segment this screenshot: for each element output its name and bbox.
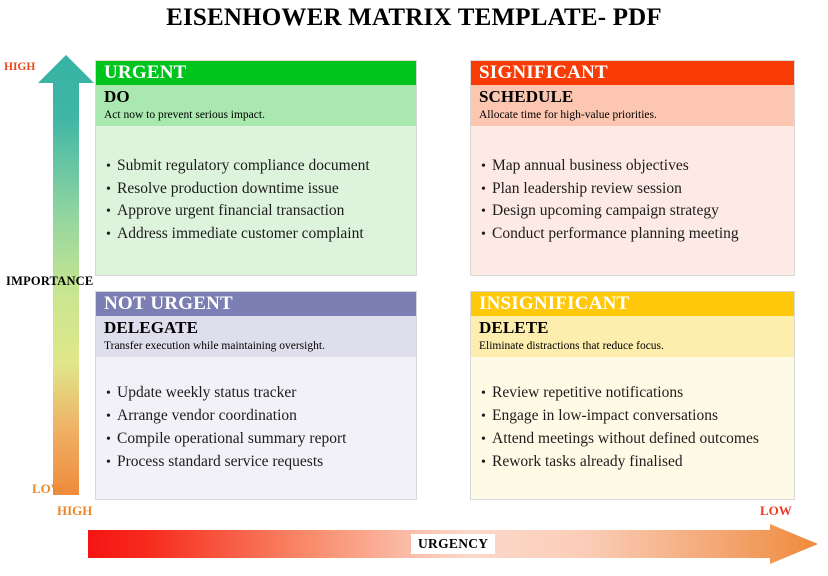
eisenhower-matrix-page: EISENHOWER MATRIX TEMPLATE- PDF HIGH IMP… bbox=[0, 0, 828, 576]
list-item[interactable]: Engage in low-impact conversations bbox=[481, 405, 794, 428]
list-item[interactable]: Attend meetings without defined outcomes bbox=[481, 428, 794, 451]
quadrant-header-label: NOT URGENT bbox=[96, 292, 416, 316]
list-item[interactable]: Conduct performance planning meeting bbox=[481, 223, 794, 246]
quadrant-action-label: DO bbox=[104, 87, 416, 107]
list-item[interactable]: Approve urgent financial transaction bbox=[106, 200, 416, 223]
quadrant-action-label: DELETE bbox=[479, 318, 794, 338]
list-item[interactable]: Submit regulatory compliance document bbox=[106, 155, 416, 178]
quadrant-header-label: SIGNIFICANT bbox=[471, 61, 794, 85]
task-list: Review repetitive notifications Engage i… bbox=[481, 382, 794, 473]
quadrant-description: Transfer execution while maintaining ove… bbox=[104, 338, 416, 353]
task-list: Submit regulatory compliance document Re… bbox=[106, 155, 416, 246]
urgency-axis-label: URGENCY bbox=[411, 534, 495, 554]
quadrant-not-urgent-delegate[interactable]: NOT URGENT DELEGATE Transfer execution w… bbox=[95, 291, 417, 500]
list-item[interactable]: Process standard service requests bbox=[106, 451, 416, 474]
list-item[interactable]: Update weekly status tracker bbox=[106, 382, 416, 405]
quadrant-description: Eliminate distractions that reduce focus… bbox=[479, 338, 794, 353]
list-item[interactable]: Map annual business objectives bbox=[481, 155, 794, 178]
list-item[interactable]: Plan leadership review session bbox=[481, 178, 794, 201]
quadrant-insignificant-delete[interactable]: INSIGNIFICANT DELETE Eliminate distracti… bbox=[470, 291, 795, 500]
list-item[interactable]: Arrange vendor coordination bbox=[106, 405, 416, 428]
quadrant-action-label: SCHEDULE bbox=[479, 87, 794, 107]
quadrant-description: Act now to prevent serious impact. bbox=[104, 107, 416, 122]
page-title: EISENHOWER MATRIX TEMPLATE- PDF bbox=[0, 4, 828, 32]
importance-high-label: HIGH bbox=[4, 61, 35, 73]
importance-axis-label: IMPORTANCE bbox=[6, 274, 93, 289]
quadrant-subtitle-block: DELEGATE Transfer execution while mainta… bbox=[96, 316, 416, 357]
quadrant-header-label: INSIGNIFICANT bbox=[471, 292, 794, 316]
quadrant-description: Allocate time for high-value priorities. bbox=[479, 107, 794, 122]
list-item[interactable]: Address immediate customer complaint bbox=[106, 223, 416, 246]
list-item[interactable]: Compile operational summary report bbox=[106, 428, 416, 451]
list-item[interactable]: Design upcoming campaign strategy bbox=[481, 200, 794, 223]
urgency-high-label: HIGH bbox=[57, 503, 92, 519]
quadrant-body: Review repetitive notifications Engage i… bbox=[471, 357, 794, 499]
list-item[interactable]: Rework tasks already finalised bbox=[481, 451, 794, 474]
urgency-low-label: LOW bbox=[760, 503, 792, 519]
quadrant-significant-schedule[interactable]: SIGNIFICANT SCHEDULE Allocate time for h… bbox=[470, 60, 795, 276]
list-item[interactable]: Resolve production downtime issue bbox=[106, 178, 416, 201]
quadrant-header-label: URGENT bbox=[96, 61, 416, 85]
task-list: Update weekly status tracker Arrange ven… bbox=[106, 382, 416, 473]
quadrant-body: Map annual business objectives Plan lead… bbox=[471, 126, 794, 275]
task-list: Map annual business objectives Plan lead… bbox=[481, 155, 794, 246]
quadrant-subtitle-block: DELETE Eliminate distractions that reduc… bbox=[471, 316, 794, 357]
quadrant-urgent-important[interactable]: URGENT DO Act now to prevent serious imp… bbox=[95, 60, 417, 276]
list-item[interactable]: Review repetitive notifications bbox=[481, 382, 794, 405]
quadrant-action-label: DELEGATE bbox=[104, 318, 416, 338]
quadrant-subtitle-block: SCHEDULE Allocate time for high-value pr… bbox=[471, 85, 794, 126]
quadrant-body: Update weekly status tracker Arrange ven… bbox=[96, 357, 416, 499]
quadrant-subtitle-block: DO Act now to prevent serious impact. bbox=[96, 85, 416, 126]
importance-low-label: LOW bbox=[32, 481, 64, 497]
quadrant-body: Submit regulatory compliance document Re… bbox=[96, 126, 416, 275]
